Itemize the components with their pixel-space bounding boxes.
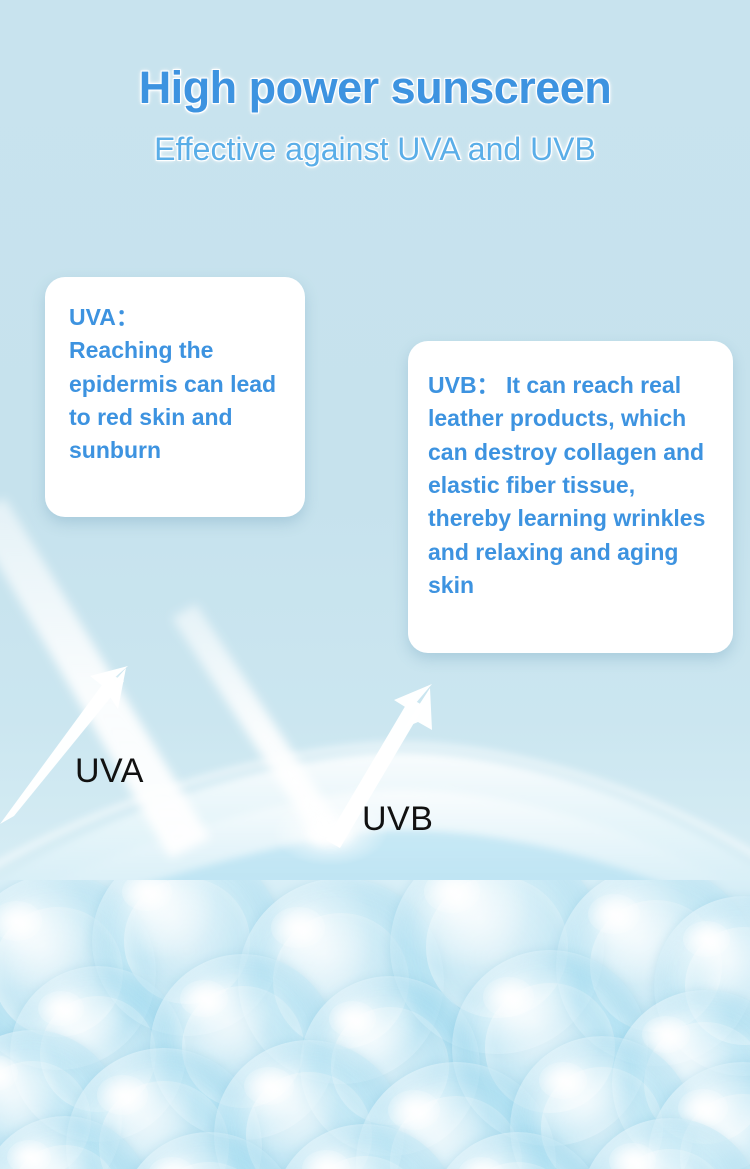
page-subtitle: Effective against UVA and UVB: [0, 130, 750, 168]
info-card-uvb-text: UVB： It can reach real leather products,…: [428, 369, 715, 602]
bubble-inner-ring: [9, 1145, 121, 1169]
bubble-inner-ring: [304, 1156, 427, 1169]
info-card-uvb: UVB： It can reach real leather products,…: [408, 341, 733, 653]
info-card-uva-text: UVA： Reaching the epidermis can lead to …: [69, 301, 285, 468]
bubble-inner-ring: [460, 1162, 576, 1169]
ray-label-uvb: UVB: [362, 800, 433, 839]
ray-label-uva: UVA: [75, 752, 144, 791]
info-card-uva: UVA： Reaching the epidermis can lead to …: [45, 277, 305, 517]
page-title: High power sunscreen: [0, 62, 750, 114]
bubble-inner-ring: [611, 1149, 730, 1169]
header-block: High power sunscreen Effective against U…: [0, 62, 750, 168]
bubble-field: [0, 880, 750, 1169]
bubble-inner-ring: [150, 1162, 267, 1169]
sunscreen-infographic: High power sunscreen Effective against U…: [0, 0, 750, 1169]
